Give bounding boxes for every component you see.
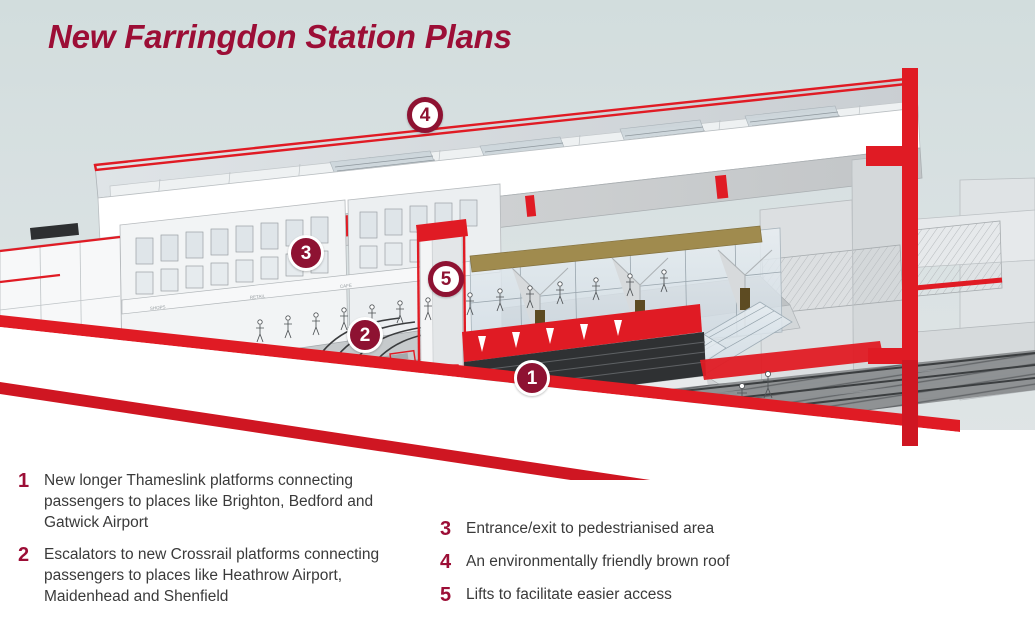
station-illustration: SHOPS RETAIL CAFE <box>0 60 1035 480</box>
legend-item-3-text: Entrance/exit to pedestrianised area <box>466 518 714 539</box>
legend-item-2-text: Escalators to new Crossrail platforms co… <box>44 544 418 607</box>
legend-column-right: 3 Entrance/exit to pedestrianised area 4… <box>440 518 860 617</box>
legend-item-5-text: Lifts to facilitate easier access <box>466 584 672 605</box>
callout-4[interactable]: 4 <box>407 97 443 133</box>
callout-2-label: 2 <box>360 326 371 345</box>
right-red-column-lower <box>902 360 918 446</box>
legend-item-3-number: 3 <box>440 518 466 540</box>
legend-item-2: 2 Escalators to new Crossrail platforms … <box>18 544 418 607</box>
legend-item-1: 1 New longer Thameslink platforms connec… <box>18 470 418 533</box>
callout-3-label: 3 <box>301 244 312 263</box>
callout-5-label: 5 <box>441 270 452 289</box>
legend-column-left: 1 New longer Thameslink platforms connec… <box>18 470 418 618</box>
lower-red-diagonal-svg <box>0 60 1035 480</box>
callout-3[interactable]: 3 <box>288 235 324 271</box>
infographic-page: New Farringdon Station Plans <box>0 0 1035 621</box>
legend-item-3: 3 Entrance/exit to pedestrianised area <box>440 518 860 540</box>
legend-item-4-text: An environmentally friendly brown roof <box>466 551 730 572</box>
legend-item-2-number: 2 <box>18 544 44 566</box>
legend: 1 New longer Thameslink platforms connec… <box>0 462 1035 621</box>
legend-item-5-number: 5 <box>440 584 466 606</box>
legend-item-1-number: 1 <box>18 470 44 492</box>
legend-item-5: 5 Lifts to facilitate easier access <box>440 584 860 606</box>
callout-1[interactable]: 1 <box>514 360 550 396</box>
legend-item-4-number: 4 <box>440 551 466 573</box>
callout-4-label: 4 <box>420 106 431 125</box>
page-title: New Farringdon Station Plans <box>48 18 512 56</box>
callout-1-label: 1 <box>527 369 538 388</box>
callout-5[interactable]: 5 <box>428 261 464 297</box>
legend-item-4: 4 An environmentally friendly brown roof <box>440 551 860 573</box>
legend-item-1-text: New longer Thameslink platforms connecti… <box>44 470 418 533</box>
callout-2[interactable]: 2 <box>347 317 383 353</box>
